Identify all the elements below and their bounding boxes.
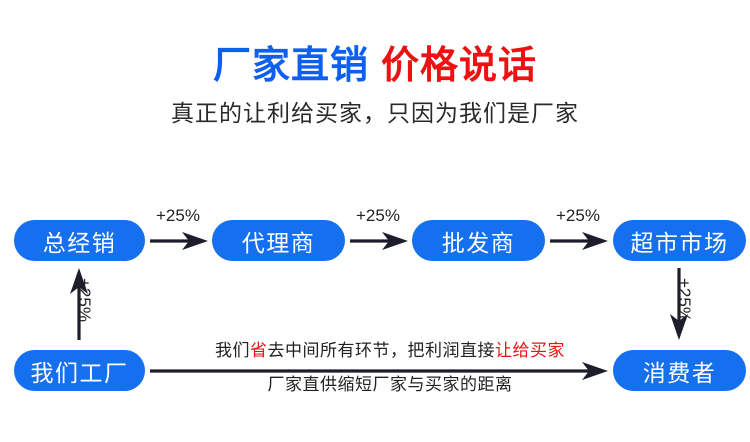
flow-node-agent[interactable]: 代理商: [212, 220, 345, 261]
flow-node-our-factory[interactable]: 我们工厂: [14, 350, 145, 391]
arrow-node1-to-node2: [150, 232, 208, 250]
direct-supply-caption-primary: 我们省去中间所有环节，把利润直接让给买家: [215, 340, 565, 362]
page-title-blue-segment: 厂家直销: [213, 45, 369, 87]
markup-label-node3-node4: +25%: [556, 206, 600, 226]
markup-label-node4-node6: +25%: [674, 278, 694, 322]
markup-label-node2-node3: +25%: [356, 206, 400, 226]
arrow-node2-to-node3: [350, 232, 408, 250]
direct-supply-caption-secondary: 厂家直供缩短厂家与买家的距离: [215, 374, 565, 396]
flow-node-wholesaler[interactable]: 批发商: [412, 220, 545, 261]
flow-node-label: 消费者: [643, 354, 717, 388]
flow-node-label: 总经销: [43, 224, 117, 258]
caption-text-part2: 去中间所有环节，把利润直接: [268, 341, 496, 360]
caption-highlight-save: 省: [250, 341, 268, 360]
page-title: 厂家直销价格说话: [0, 44, 750, 88]
flow-node-consumer[interactable]: 消费者: [613, 350, 746, 391]
markup-label-node1-node2: +25%: [156, 206, 200, 226]
page-title-red-segment: 价格说话: [381, 45, 537, 87]
markup-label-node5-node1: +25%: [74, 278, 94, 322]
caption-highlight-give-to-buyer: 让给买家: [495, 341, 565, 360]
flow-node-label: 代理商: [242, 224, 316, 258]
flow-node-label: 我们工厂: [31, 354, 129, 388]
flow-node-general-distributor[interactable]: 总经销: [14, 220, 145, 261]
flow-node-label: 超市市场: [631, 224, 729, 258]
flow-node-supermarket[interactable]: 超市市场: [613, 220, 746, 261]
arrow-node3-to-node4: [550, 232, 608, 250]
page-subtitle: 真正的让利给买家，只因为我们是厂家: [0, 98, 750, 128]
promo-banner: 厂家直销价格说话 真正的让利给买家，只因为我们是厂家: [0, 0, 750, 442]
caption-text-part1: 我们: [215, 341, 250, 360]
flow-node-label: 批发商: [442, 224, 516, 258]
